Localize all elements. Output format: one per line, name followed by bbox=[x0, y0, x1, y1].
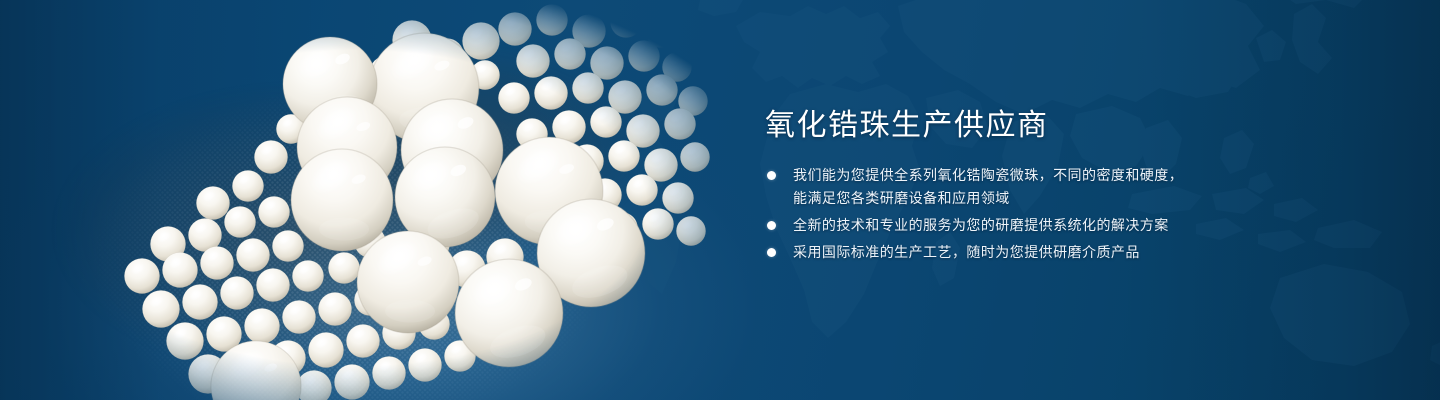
bullet-text-line-1: 全新的技术和专业的服务为您的研磨提供系统化的解决方案 bbox=[793, 217, 1169, 233]
banner-bullet-item: 全新的技术和专业的服务为您的研磨提供系统化的解决方案 bbox=[765, 214, 1325, 237]
banner-bullet-list: 我们能为您提供全系列氧化锆陶瓷微珠，不同的密度和硬度， 能满足您各类研磨设备和应… bbox=[765, 164, 1325, 264]
bullet-dot-icon bbox=[767, 221, 776, 230]
bullet-dot-icon bbox=[767, 248, 776, 257]
bullet-text-line-2: 能满足您各类研磨设备和应用领域 bbox=[793, 187, 1325, 210]
banner-headline: 氧化锆珠生产供应商 bbox=[765, 108, 1325, 144]
bullet-dot-icon bbox=[767, 171, 776, 180]
zirconia-beads-image bbox=[0, 0, 740, 400]
hero-banner: 氧化锆珠生产供应商 我们能为您提供全系列氧化锆陶瓷微珠，不同的密度和硬度， 能满… bbox=[0, 0, 1440, 400]
banner-bullet-item: 我们能为您提供全系列氧化锆陶瓷微珠，不同的密度和硬度， 能满足您各类研磨设备和应… bbox=[765, 164, 1325, 210]
bullet-text-line-1: 采用国际标准的生产工艺，随时为您提供研磨介质产品 bbox=[793, 244, 1140, 260]
banner-bullet-item: 采用国际标准的生产工艺，随时为您提供研磨介质产品 bbox=[765, 241, 1325, 264]
banner-copy: 氧化锆珠生产供应商 我们能为您提供全系列氧化锆陶瓷微珠，不同的密度和硬度， 能满… bbox=[765, 108, 1325, 268]
bullet-text-line-1: 我们能为您提供全系列氧化锆陶瓷微珠，不同的密度和硬度， bbox=[793, 167, 1183, 183]
